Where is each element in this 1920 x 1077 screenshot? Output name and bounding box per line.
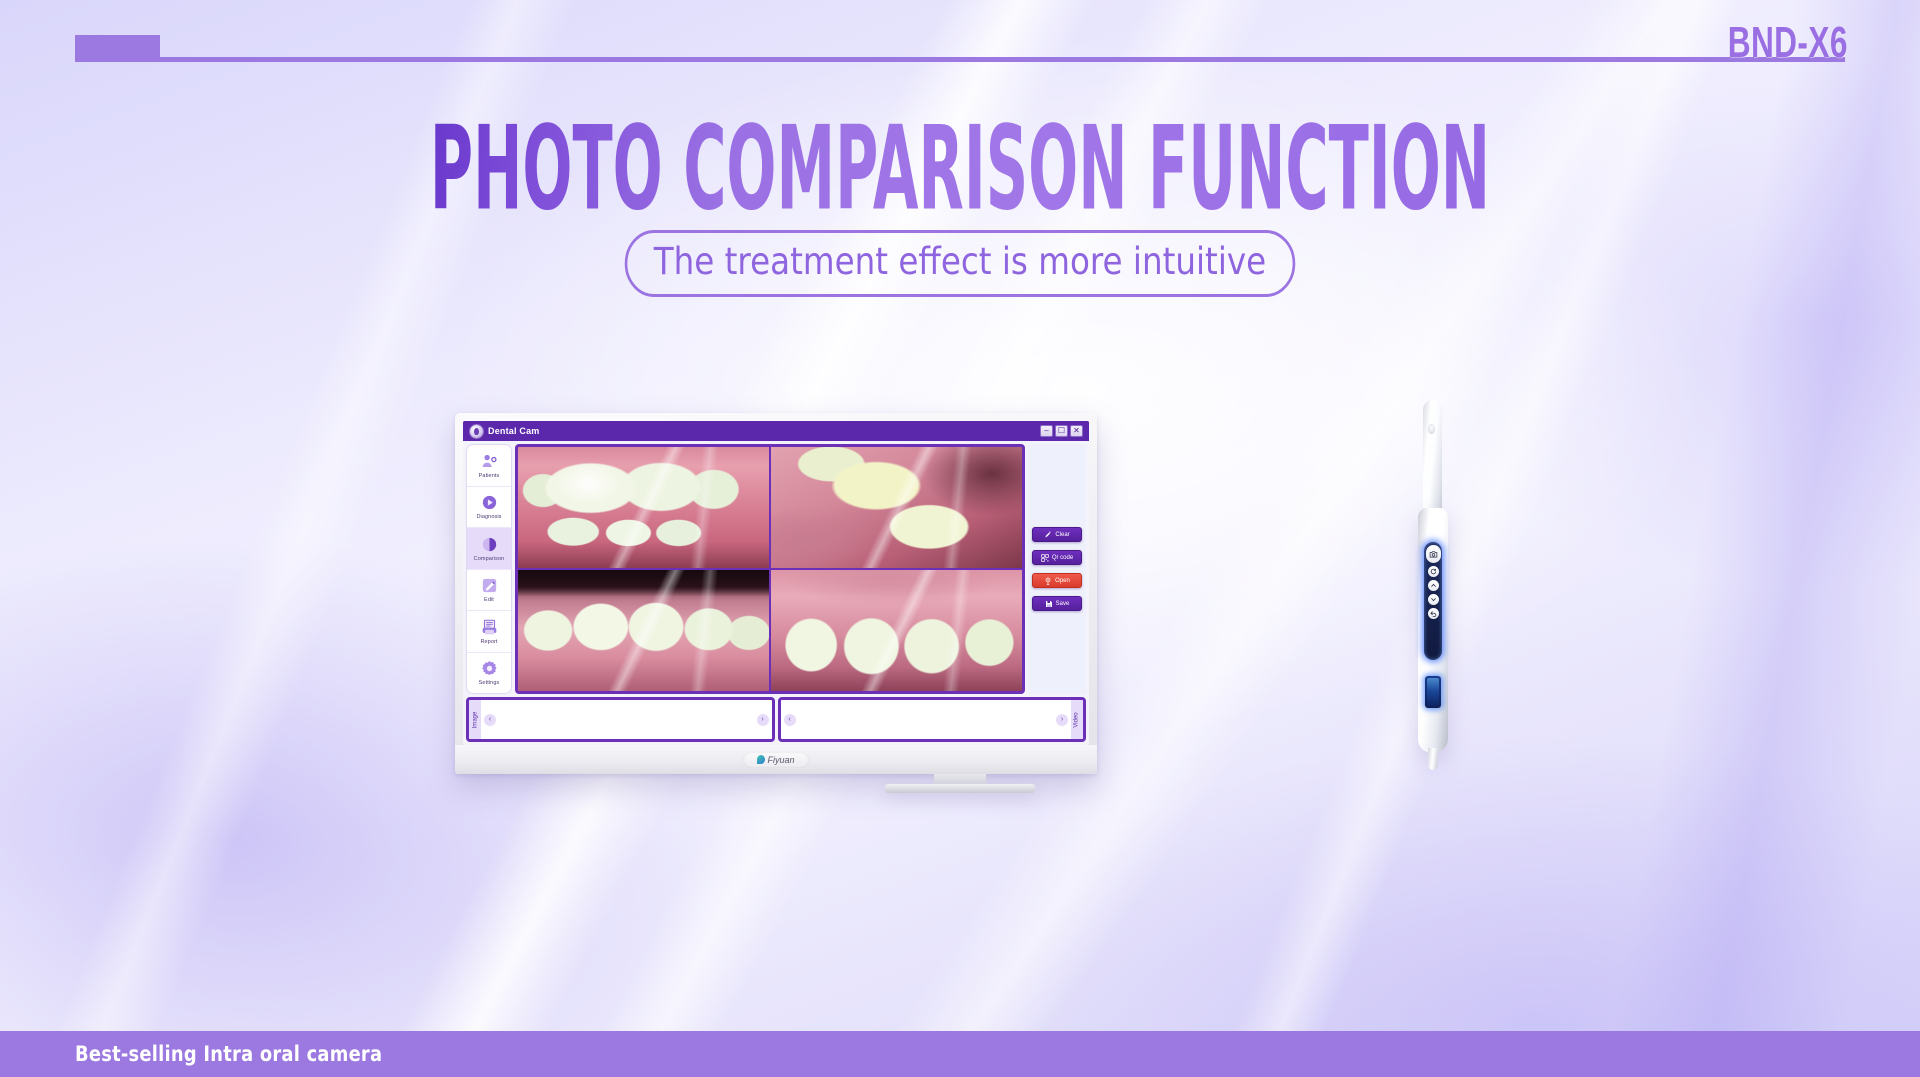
sidebar-item-edit[interactable]: Edit xyxy=(467,570,511,612)
video-strip: ‹ › Video xyxy=(778,697,1087,742)
camera-display xyxy=(1425,676,1441,708)
app-body: Patients Diagnosis Comparison xyxy=(463,441,1089,694)
minimize-button[interactable]: – xyxy=(1040,425,1053,437)
sidebar-item-label: Settings xyxy=(479,680,500,686)
photo-cell[interactable] xyxy=(771,447,1022,568)
sidebar-item-label: Comparison xyxy=(474,556,505,562)
action-label: Qr code xyxy=(1052,555,1073,561)
page-title: PHOTO COMPARISON FUNCTION xyxy=(365,112,1555,228)
comparison-viewer: Clear Qr code Open Save xyxy=(515,444,1086,694)
monitor-bezel-bottom: Fiyuan xyxy=(455,745,1097,774)
monitor: Dental Cam – ☐ ✕ Patients xyxy=(455,413,1097,774)
sidebar-item-settings[interactable]: Settings xyxy=(467,653,511,694)
video-thumbnail-track[interactable] xyxy=(799,700,1054,739)
close-button[interactable]: ✕ xyxy=(1070,425,1083,437)
sidebar-item-label: Edit xyxy=(484,597,494,603)
switch-button[interactable] xyxy=(1428,566,1439,577)
action-label: Open xyxy=(1055,578,1070,584)
save-button[interactable]: Save xyxy=(1032,596,1082,611)
diagnosis-icon xyxy=(480,493,499,512)
sidebar-item-diagnosis[interactable]: Diagnosis xyxy=(467,487,511,529)
product-model-label: BND-X6 xyxy=(1728,18,1848,68)
camera-body xyxy=(1418,508,1448,753)
camera-cable-end xyxy=(1428,748,1438,770)
photo-sheen xyxy=(771,570,1022,691)
edit-icon xyxy=(480,576,499,595)
app-titlebar: Dental Cam – ☐ ✕ xyxy=(463,421,1089,441)
sidebar-item-label: Patients xyxy=(479,473,500,479)
action-rail: Clear Qr code Open Save xyxy=(1028,444,1086,694)
sidebar-item-label: Diagnosis xyxy=(476,514,501,520)
image-strip-next-arrow[interactable]: › xyxy=(757,714,769,726)
action-label: Save xyxy=(1056,601,1070,607)
patients-icon xyxy=(480,452,499,471)
clear-icon xyxy=(1044,531,1052,539)
strip-tab-label: Video xyxy=(1074,712,1080,727)
comparison-icon xyxy=(480,535,499,554)
return-icon xyxy=(1430,610,1437,617)
down-button[interactable] xyxy=(1428,594,1439,605)
sidebar-item-report[interactable]: Report xyxy=(467,611,511,653)
clear-button[interactable]: Clear xyxy=(1032,527,1082,542)
action-label: Clear xyxy=(1055,532,1069,538)
image-thumbnail-track[interactable] xyxy=(499,700,754,739)
image-strip-prev-arrow[interactable]: ‹ xyxy=(484,714,496,726)
chevron-down-icon xyxy=(1430,596,1437,603)
photo-sheen xyxy=(771,447,1022,568)
header-rule xyxy=(75,57,1845,62)
sidebar: Patients Diagnosis Comparison xyxy=(466,444,512,694)
subtitle-container: The treatment effect is more intuitive xyxy=(0,230,1920,297)
back-button[interactable] xyxy=(1428,608,1439,619)
settings-icon xyxy=(480,659,499,678)
footer-text: Best-selling Intra oral camera xyxy=(75,1042,382,1066)
sidebar-item-label: Report xyxy=(480,639,497,645)
image-strip-tab[interactable]: Image xyxy=(469,700,481,739)
brand-logo-text: Fiyuan xyxy=(767,755,794,765)
tooth-icon xyxy=(470,425,483,438)
image-strip: Image ‹ › xyxy=(466,697,775,742)
qrcode-icon xyxy=(1041,554,1049,562)
app-title: Dental Cam xyxy=(488,426,540,436)
shutter-button[interactable] xyxy=(1426,545,1441,563)
photo-cell[interactable] xyxy=(518,447,769,568)
sidebar-item-comparison[interactable]: Comparison xyxy=(467,528,511,570)
intraoral-camera-handpiece xyxy=(1399,400,1467,770)
monitor-stand-base xyxy=(885,784,1035,793)
photo-grid xyxy=(515,444,1025,694)
video-strip-next-arrow[interactable]: › xyxy=(1056,714,1068,726)
video-strip-tab[interactable]: Video xyxy=(1071,700,1083,739)
report-icon xyxy=(480,618,499,637)
camera-keypad xyxy=(1424,542,1442,660)
monitor-screen: Dental Cam – ☐ ✕ Patients xyxy=(463,421,1089,745)
sidebar-item-patients[interactable]: Patients xyxy=(467,445,511,487)
dental-cam-application: Dental Cam – ☐ ✕ Patients xyxy=(463,421,1089,745)
qrcode-button[interactable]: Qr code xyxy=(1032,550,1082,565)
video-strip-prev-arrow[interactable]: ‹ xyxy=(784,714,796,726)
maximize-button[interactable]: ☐ xyxy=(1055,425,1068,437)
refresh-icon xyxy=(1430,568,1437,575)
footer-banner: Best-selling Intra oral camera xyxy=(0,1031,1920,1077)
chevron-up-icon xyxy=(1430,582,1437,589)
brand-mark-icon xyxy=(757,755,765,764)
photo-cell[interactable] xyxy=(771,570,1022,691)
camera-tip xyxy=(1423,400,1442,520)
strip-tab-label: Image xyxy=(472,711,478,728)
camera-icon xyxy=(1429,550,1438,559)
thumbnail-strips: Image ‹ › ‹ › Video xyxy=(463,694,1089,745)
up-button[interactable] xyxy=(1428,580,1439,591)
monitor-brand-logo: Fiyuan xyxy=(743,752,809,768)
photo-sheen xyxy=(518,447,769,568)
window-controls: – ☐ ✕ xyxy=(1040,425,1085,437)
photo-sheen xyxy=(518,570,769,691)
save-icon xyxy=(1045,600,1053,608)
page-subtitle: The treatment effect is more intuitive xyxy=(625,230,1295,297)
open-button[interactable]: Open xyxy=(1032,573,1082,588)
photo-cell[interactable] xyxy=(518,570,769,691)
open-icon xyxy=(1044,577,1052,585)
